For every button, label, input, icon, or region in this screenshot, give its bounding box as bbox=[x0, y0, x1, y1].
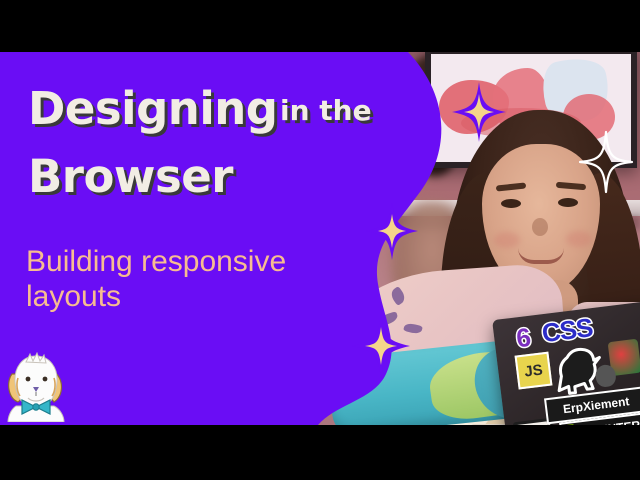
video-frame: 6 CSS JS ErpXiement CENTERED bbox=[0, 52, 640, 425]
sparkle-outline-right bbox=[578, 130, 634, 194]
title-line-1: Designing bbox=[28, 82, 278, 135]
sparkle-mid-left bbox=[366, 202, 418, 260]
title-line-2: Browser bbox=[28, 150, 233, 203]
letterbox-bar-top bbox=[0, 0, 640, 52]
sparkle-top-right bbox=[452, 82, 506, 142]
letterbox-bar-bottom bbox=[0, 425, 640, 480]
title-overlay: Designing in the Browser Building respon… bbox=[0, 52, 640, 425]
video-player-stage: 6 CSS JS ErpXiement CENTERED bbox=[0, 0, 640, 480]
sparkle-lower-left bbox=[352, 314, 410, 378]
title-small-words: in the bbox=[280, 94, 372, 127]
subtitle-text: Building responsive layouts bbox=[26, 244, 356, 315]
dog-mascot-logo bbox=[4, 352, 68, 422]
